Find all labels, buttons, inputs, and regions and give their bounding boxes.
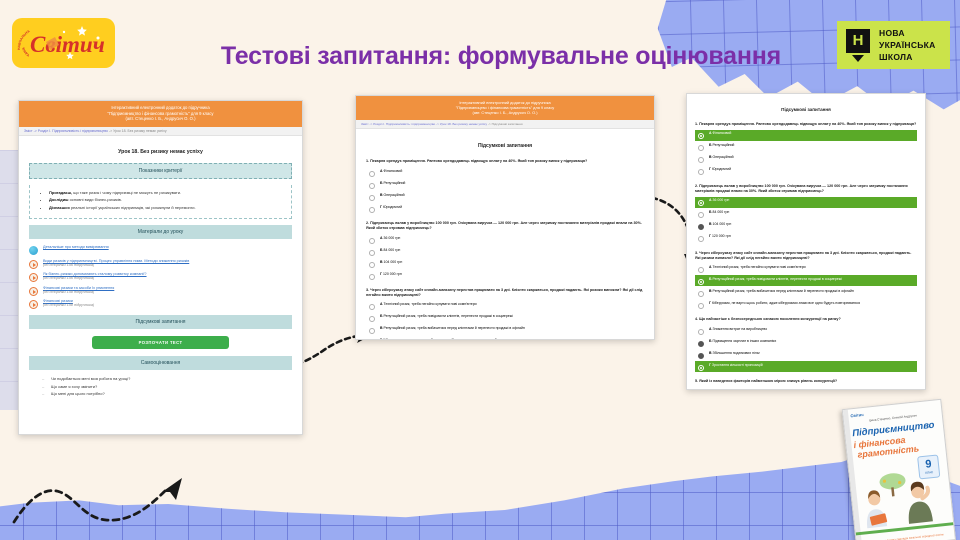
radio-icon[interactable]: [698, 329, 704, 335]
list-item: Чи подобається мені моя робота на уроці?: [51, 376, 292, 381]
slide-canvas: НАВЧАЛЬНА КНИГА Світич Тестові запитання…: [0, 0, 960, 540]
grid-mountain-bottom: [0, 426, 960, 540]
option-label: Б Підвищення зарплат в інших компаніях: [709, 339, 776, 344]
list-item[interactable]: Види ризиків у підприємництві. Процес уп…: [29, 259, 292, 269]
criteria-rest: що таке ризик і чому підприємці не можут…: [72, 190, 181, 195]
question-block: 1. Пекарня орендує приміщення. Раптово о…: [695, 122, 917, 177]
radio-icon[interactable]: [698, 133, 704, 139]
question-body: Через кіберсуказу атаку сайт онлайн-мага…: [366, 288, 642, 297]
answer-option[interactable]: А Фінансовий: [366, 167, 644, 178]
option-label: Б 84 000 грн: [709, 210, 729, 215]
answer-option[interactable]: Б Репутаційний ризик, треба повідомити к…: [366, 313, 644, 324]
question-number: 2.: [366, 221, 369, 225]
option-label: Г 120 000 грн: [709, 234, 731, 239]
screenshot-lesson-page[interactable]: Інтерактивний електронний додаток до під…: [18, 100, 303, 435]
option-label: А Диференціація продукту: [709, 389, 752, 390]
question-text: 3. Через кіберсуказу атаку сайт онлайн-м…: [695, 251, 917, 261]
selfcheck-list: Чи подобається мені моя робота на уроці?…: [29, 376, 292, 396]
student-boy: [905, 481, 933, 524]
material-note: (до сторінки 146 підручника): [43, 263, 189, 267]
criteria-list: Пригадаєш, що таке ризик і чому підприєм…: [29, 185, 292, 220]
question-block: 2. Підприємець вклав у виробництво 100 0…: [366, 221, 644, 281]
radio-icon[interactable]: [369, 328, 375, 334]
svg-text:НАВЧАЛЬНА: НАВЧАЛЬНА: [17, 29, 31, 50]
svitych-logo[interactable]: НАВЧАЛЬНА КНИГА Світич: [12, 18, 115, 68]
option-label: А Технічний ризик, треба негайно купуват…: [380, 302, 477, 307]
nus-line-2: УКРАЇНСЬКА: [879, 39, 936, 51]
answer-option-correct[interactable]: А Фінансовий: [695, 130, 917, 141]
question-number: 4.: [695, 317, 698, 321]
question-number: 1.: [366, 159, 369, 163]
breadcrumb-current: -> Урок 18. Без ризику немає успіху: [108, 129, 167, 133]
criteria-rest: реальні історії українських підприємців,…: [70, 205, 196, 210]
radio-icon[interactable]: [369, 304, 375, 310]
radio-icon[interactable]: [698, 169, 704, 175]
answer-option[interactable]: А Зниження витрат на виробництво: [695, 325, 917, 336]
answer-option[interactable]: А Диференціація продукту: [695, 387, 917, 390]
radio-icon[interactable]: [698, 291, 704, 297]
option-label: В 104 000 грн: [380, 260, 402, 265]
material-note: (до сторінки 146 підручника): [43, 276, 147, 280]
answer-option[interactable]: Б 84 000 грн: [366, 246, 644, 257]
option-label: В Операційний: [380, 193, 405, 198]
answer-option[interactable]: А Технічний ризик, треба негайно купуват…: [695, 263, 917, 274]
answer-option[interactable]: А 36 000 грн: [366, 234, 644, 245]
question-number: 3.: [695, 251, 698, 255]
question-body: Підприємець вклав у виробництво 100 000 …: [366, 221, 642, 230]
answer-option[interactable]: В Операційний: [366, 191, 644, 202]
play-icon: [29, 287, 38, 296]
cover-illustration: [854, 466, 951, 531]
option-label: В 104 000 грн: [709, 222, 731, 227]
questions-band: Підсумкові запитання: [29, 315, 292, 329]
radio-icon[interactable]: [698, 157, 704, 163]
question-text: 1. Пекарня орендує приміщення. Раптово о…: [366, 159, 644, 164]
question-text: 3. Через кіберсуказу атаку сайт онлайн-м…: [366, 288, 644, 298]
radio-icon[interactable]: [698, 212, 704, 218]
materials-band: Матеріали до уроку: [29, 225, 292, 239]
play-icon: [29, 300, 38, 309]
answer-option[interactable]: В Операційний: [695, 154, 917, 165]
answer-option[interactable]: Б Підвищення зарплат в інших компаніях: [695, 337, 917, 348]
option-label: Г Юридичний: [380, 205, 402, 210]
radio-icon[interactable]: [369, 238, 375, 244]
screenshot-quiz-page[interactable]: Інтерактивний електронний додаток до під…: [355, 95, 655, 340]
option-label: А Зниження витрат на виробництво: [709, 327, 767, 332]
results-body: Підсумкові запитання 1. Пекарня орендує …: [687, 94, 925, 390]
selfcheck-band: Самооцінювання: [29, 356, 292, 370]
material-link[interactable]: Детальніше про методи вимірювання: [43, 245, 109, 249]
question-block: 3. Через кіберсуказу атаку сайт онлайн-м…: [366, 288, 644, 340]
material-text: Види ризиків у підприємництві. Процес уп…: [43, 259, 189, 267]
radio-icon[interactable]: [369, 250, 375, 256]
answer-option[interactable]: Б 84 000 грн: [695, 209, 917, 220]
logo-wordmark: Світич: [30, 32, 105, 57]
nus-logo[interactable]: Н НОВА УКРАЇНСЬКА ШКОЛА: [837, 21, 950, 69]
breadcrumb-links[interactable]: Зміст -> Розділ І. Підприємливість і під…: [24, 129, 108, 133]
radio-icon[interactable]: [698, 267, 704, 273]
results-title: Підсумкові запитання: [695, 107, 917, 112]
radio-icon[interactable]: [698, 200, 704, 206]
answer-option[interactable]: В Репутаційний ризик, треба вибачитися п…: [695, 287, 917, 298]
material-text: Фінансові ризики та засоби їх уникнення …: [43, 286, 114, 294]
question-block: 4. Що найчастіше є безпосередньою ознако…: [695, 317, 917, 372]
breadcrumb[interactable]: Зміст -> Розділ І. Підприємливість і під…: [19, 127, 302, 136]
option-label: Б Репутаційний: [380, 181, 405, 186]
option-label: В Репутаційний ризик, треба вибачитися п…: [709, 289, 854, 294]
option-label: А 36 000 грн: [380, 236, 400, 241]
answer-option[interactable]: Г Кіберризик, не варто щось робити, адже…: [366, 337, 644, 340]
question-number: 2.: [695, 184, 698, 188]
criteria-lead: Пригадаєш,: [49, 190, 72, 195]
option-label: Г Кіберризик, не варто щось робити, адже…: [380, 338, 531, 340]
answer-option-correct[interactable]: А 36 000 грн: [695, 197, 917, 208]
list-item[interactable]: Фінансові ризики та засоби їх уникнення …: [29, 286, 292, 296]
textbook-cover: Світич Ірина Стеценко, Олексій Андрусич …: [842, 399, 956, 540]
list-item[interactable]: Фінансові ризики (до сторінки 148 підруч…: [29, 299, 292, 309]
option-label: Б Репутаційний ризик, треба повідомити к…: [709, 277, 842, 282]
answer-option-correct[interactable]: Г Зростання кількості пропозицій: [695, 361, 917, 372]
question-number: 3.: [366, 288, 369, 292]
answer-option[interactable]: В 104 000 грн: [695, 221, 917, 232]
option-label: А 36 000 грн: [709, 198, 729, 203]
option-label: В Операційний: [709, 155, 734, 160]
question-text: 4. Що найчастіше є безпосередньою ознако…: [695, 317, 917, 322]
radio-icon[interactable]: [369, 316, 375, 322]
radio-icon[interactable]: [369, 171, 375, 177]
answer-option[interactable]: Г Юридичний: [695, 166, 917, 177]
breadcrumb[interactable]: Зміст -> Розділ І. Підприємливість і під…: [356, 120, 654, 129]
criteria-band: Показники критерії: [29, 163, 292, 179]
answer-option-correct[interactable]: Б Репутаційний ризик, треба повідомити к…: [695, 275, 917, 286]
option-label: Г Кіберризик, не варто щось робити, адже…: [709, 301, 860, 306]
app-header: Інтерактивний електронний додаток до під…: [19, 101, 302, 127]
question-block: 2. Підприємець вклав у виробництво 100 0…: [695, 184, 917, 244]
quiz-body: Підсумкові запитання 1. Пекарня орендує …: [356, 129, 654, 340]
radio-icon[interactable]: [369, 207, 375, 213]
option-label: Г 120 000 грн: [380, 272, 402, 277]
question-block: 1. Пекарня орендує приміщення. Раптово о…: [366, 159, 644, 214]
answer-option[interactable]: Г Юридичний: [366, 203, 644, 214]
material-text: Детальніше про методи вимірювання: [43, 245, 109, 249]
question-block: 3. Через кіберсуказу атаку сайт онлайн-м…: [695, 251, 917, 311]
answer-option[interactable]: В 104 000 грн: [366, 258, 644, 269]
radio-icon[interactable]: [698, 224, 704, 230]
list-item[interactable]: Детальніше про методи вимірювання: [29, 245, 292, 255]
nus-line-1: НОВА: [879, 27, 936, 39]
nus-monogram-icon: Н: [843, 29, 873, 62]
lesson-title: Урок 18. Без ризику немає успіху: [29, 149, 292, 155]
flow-arrow-3: [10, 470, 200, 530]
screenshot-results-page[interactable]: Підсумкові запитання 1. Пекарня орендує …: [686, 93, 926, 390]
lesson-body: Урок 18. Без ризику немає успіху Показни…: [19, 136, 302, 407]
question-number: 5.: [695, 379, 698, 383]
option-label: Б Репутаційний: [709, 143, 734, 148]
answer-option[interactable]: В Репутаційний ризик, треба вибачитися п…: [366, 325, 644, 336]
answer-option[interactable]: Б Репутаційний: [695, 142, 917, 153]
question-body: Через кіберсуказу атаку сайт онлайн-мага…: [695, 251, 911, 260]
nus-triangle-icon: [852, 55, 864, 62]
option-label: А Технічний ризик, треба негайно купуват…: [709, 265, 806, 270]
radio-icon[interactable]: [369, 183, 375, 189]
question-body: Пекарня орендує приміщення. Раптово орен…: [699, 122, 916, 126]
breadcrumb-links[interactable]: Зміст -> Розділ І. Підприємливість і під…: [361, 122, 487, 126]
list-item: Дослідиш основні види бізнес-ризиків.: [49, 197, 283, 202]
publisher-mark: Світич: [850, 412, 864, 418]
list-item: Дізнаєшся реальні історії українських пі…: [49, 205, 283, 210]
question-block: 5. Який із наведених факторів найменшою …: [695, 379, 917, 390]
app-header-line-3: (авт. Стеценко І. Б., Андрусич О. О.): [362, 110, 648, 115]
answer-option[interactable]: Г Кіберризик, не варто щось робити, адже…: [695, 299, 917, 310]
material-note: (до сторінки 148 підручника): [43, 290, 114, 294]
question-text: 2. Підприємець вклав у виробництво 100 0…: [366, 221, 644, 231]
option-label: Б 84 000 грн: [380, 248, 400, 253]
answer-option[interactable]: Г 120 000 грн: [695, 233, 917, 244]
student-girl: [863, 489, 887, 528]
question-body: Який із наведених факторів найменшою мір…: [699, 379, 837, 383]
question-text: 2. Підприємець вклав у виробництво 100 0…: [695, 184, 917, 194]
answer-option[interactable]: А Технічний ризик, треба негайно купуват…: [366, 301, 644, 312]
page-title: Тестові запитання: формувальне оцінюванн…: [176, 35, 826, 77]
radio-icon[interactable]: [369, 262, 375, 268]
start-test-button[interactable]: РОЗПОЧАТИ ТЕСТ: [92, 336, 229, 349]
material-text: Як бізнес-ризики допомагають сталому роз…: [43, 272, 147, 280]
nus-line-3: ШКОЛА: [879, 51, 936, 63]
play-icon: [29, 273, 38, 282]
answer-option[interactable]: Г 120 000 грн: [366, 270, 644, 281]
radio-icon[interactable]: [698, 365, 704, 371]
radio-icon[interactable]: [369, 195, 375, 201]
quiz-title: Підсумкові запитання: [366, 143, 644, 149]
option-label: А Фінансовий: [380, 169, 402, 174]
list-item: Що саме я хочу змінити?: [51, 384, 292, 389]
list-item[interactable]: Як бізнес-ризики допомагають сталому роз…: [29, 272, 292, 282]
list-item: Пригадаєш, що таке ризик і чому підприєм…: [49, 190, 283, 195]
list-item: Що мені для цього потрібно?: [51, 391, 292, 396]
radio-icon[interactable]: [698, 303, 704, 309]
textbook-front: Світич Ірина Стеценко, Олексій Андрусич …: [842, 399, 956, 540]
globe-icon: [29, 246, 38, 255]
criteria-rest: основні види бізнес-ризиків.: [69, 197, 122, 202]
radio-icon[interactable]: [369, 274, 375, 280]
question-body: Підприємець вклав у виробництво 100 000 …: [695, 184, 908, 193]
option-label: В Репутаційний ризик, треба вибачитися п…: [380, 326, 525, 331]
svitych-logo-art: НАВЧАЛЬНА КНИГА Світич: [12, 18, 115, 68]
logo-arc-top: НАВЧАЛЬНА: [17, 29, 31, 50]
radio-icon[interactable]: [698, 341, 704, 347]
option-label: Г Зростання кількості пропозицій: [709, 363, 763, 368]
nus-letter: Н: [846, 29, 870, 53]
option-label: В Збільшення податкових пільг: [709, 351, 760, 356]
app-header: Інтерактивний електронний додаток до під…: [356, 96, 654, 120]
nus-wordmark: НОВА УКРАЇНСЬКА ШКОЛА: [879, 27, 936, 63]
answer-option[interactable]: Б Репутаційний: [366, 179, 644, 190]
material-text: Фінансові ризики (до сторінки 148 підруч…: [43, 299, 94, 307]
option-label: Б Репутаційний ризик, треба повідомити к…: [380, 314, 513, 319]
radio-icon[interactable]: [698, 236, 704, 242]
question-body: Що найчастіше є безпосередньою ознакою п…: [699, 317, 841, 321]
play-icon: [29, 260, 38, 269]
question-body: Пекарня орендує приміщення. Раптово орен…: [370, 159, 587, 163]
option-label: А Фінансовий: [709, 131, 731, 136]
criteria-lead: Дослідиш: [49, 197, 69, 202]
question-text: 1. Пекарня орендує приміщення. Раптово о…: [695, 122, 917, 127]
criteria-lead: Дізнаєшся: [49, 205, 70, 210]
option-label: Г Юридичний: [709, 167, 731, 172]
material-note: (до сторінки 148 підручника): [43, 303, 94, 307]
radio-icon[interactable]: [698, 353, 704, 359]
answer-option[interactable]: В Збільшення податкових пільг: [695, 349, 917, 360]
radio-icon[interactable]: [698, 145, 704, 151]
question-number: 1.: [695, 122, 698, 126]
question-text: 5. Який із наведених факторів найменшою …: [695, 379, 917, 384]
app-header-line-3: (авт. Стеценко І. Б., Андрусич О. О.): [25, 116, 296, 122]
breadcrumb-current: -> Підсумкові запитання: [487, 122, 523, 126]
radio-icon[interactable]: [698, 279, 704, 285]
